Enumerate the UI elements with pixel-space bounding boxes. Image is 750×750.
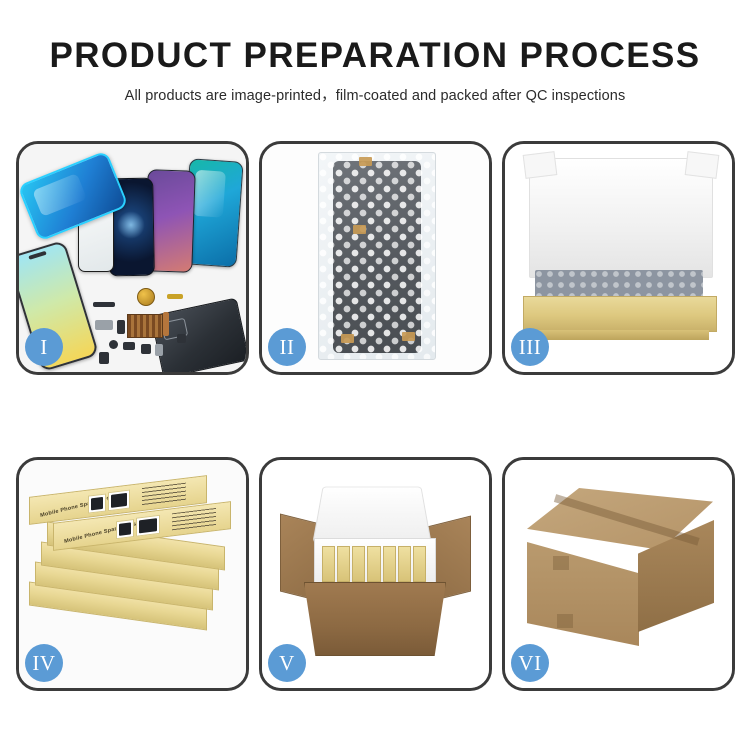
bubble-wrap-bag — [318, 152, 436, 360]
box-window-2b — [136, 515, 160, 537]
carton-tab-lower — [557, 614, 573, 628]
page-title: PRODUCT PREPARATION PROCESS — [0, 38, 750, 75]
process-step-panel-1: I — [16, 141, 249, 375]
process-step-panel-3: III — [502, 141, 735, 375]
retail-box-stack: Mobile Phone Spare Parts Mobile Phone Sp… — [29, 482, 237, 672]
bubble-texture — [319, 153, 435, 359]
foam-sheet-lid — [529, 158, 713, 278]
process-steps-grid: I II — [16, 141, 734, 691]
part-chip-2 — [141, 344, 151, 354]
inner-box-7 — [413, 546, 426, 582]
spare-parts-cluster — [93, 286, 203, 368]
step-badge-1: I — [25, 328, 63, 366]
tape-top — [359, 157, 372, 166]
tape-bottom-right — [402, 332, 415, 341]
logic-board-part — [127, 314, 163, 338]
yellow-inner-box — [523, 296, 717, 332]
step-badge-3: III — [511, 328, 549, 366]
carton-front-face — [527, 542, 639, 646]
step-badge-6: VI — [511, 644, 549, 682]
tape-bottom-left — [341, 334, 354, 343]
inner-box-4 — [367, 546, 380, 582]
part-bracket-2 — [117, 320, 125, 334]
step-badge-4: IV — [25, 644, 63, 682]
inner-box-6 — [398, 546, 411, 582]
box-window-1b — [108, 490, 130, 512]
page-subtitle: All products are image-printed，film-coat… — [0, 84, 750, 105]
box-window-1a — [88, 493, 106, 513]
inner-box-2 — [337, 546, 350, 582]
page-header: PRODUCT PREPARATION PROCESS All products… — [0, 0, 750, 105]
process-step-panel-2: II — [259, 141, 492, 375]
part-button — [109, 340, 118, 349]
part-flex-gold — [167, 294, 183, 299]
process-step-panel-5: V — [259, 457, 492, 691]
yellow-box-base — [529, 330, 709, 340]
part-chip-1 — [123, 342, 135, 350]
step-badge-5: V — [268, 644, 306, 682]
foam-box-lid — [312, 487, 431, 543]
process-step-panel-4: Mobile Phone Spare Parts Mobile Phone Sp… — [16, 457, 249, 691]
part-strip-1 — [93, 302, 115, 307]
yellow-boxes-inside — [322, 548, 426, 582]
carton-tab-upper — [553, 556, 569, 570]
inner-box-3 — [352, 546, 365, 582]
speaker-part-icon — [137, 288, 155, 306]
process-step-panel-6: VI — [502, 457, 735, 691]
inner-box-5 — [383, 546, 396, 582]
part-chip-4 — [99, 352, 109, 364]
part-flex-copper — [163, 312, 169, 336]
tape-mid — [353, 225, 366, 234]
step-badge-2: II — [268, 328, 306, 366]
part-bracket-1 — [95, 320, 113, 330]
part-chip-5 — [177, 334, 186, 343]
part-chip-3 — [155, 344, 163, 356]
inner-box-1 — [322, 546, 335, 582]
box-window-2a — [116, 519, 134, 539]
carton-body — [304, 582, 446, 656]
